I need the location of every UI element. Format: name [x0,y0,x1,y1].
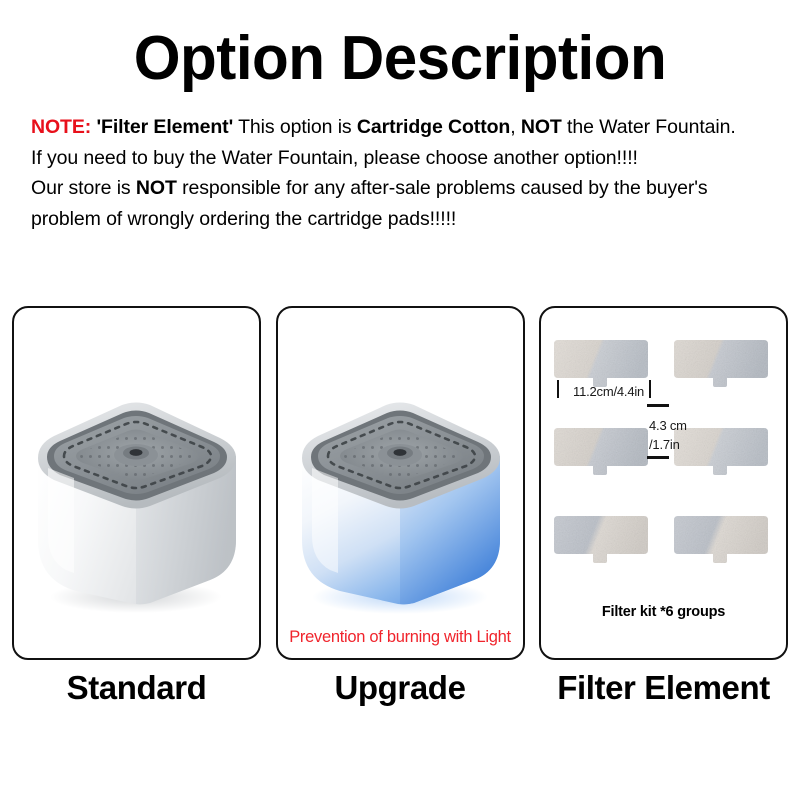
cartridge [674,340,768,387]
note-line3-text-c: responsible for any after-sale problems … [177,177,708,199]
option-labels: Standard Upgrade Filter Element [0,668,800,708]
note-line-2: If you need to buy the Water Fountain, p… [31,143,774,174]
option-panel-filter-element[interactable]: 11.2cm/4.4in 4.3 cm /1.7in Filter kit *6… [539,306,788,660]
water-fountain-white-icon [14,308,259,658]
dimension-tick-top [647,404,669,407]
dimension-height-label: 4.3 cm /1.7in [649,416,687,454]
note-line1-text-d: , [510,116,521,138]
note-label: NOTE: [31,116,91,138]
dimension-width-label: 11.2cm/4.4in [573,384,644,399]
cartridge [674,428,768,475]
note-line-4: problem of wrongly ordering the cartridg… [31,204,774,235]
option-panel-upgrade[interactable]: Prevention of burning with Light [276,306,525,660]
option-label-standard: Standard [12,668,261,708]
note-not-emphasis-2: NOT [136,177,177,199]
option-panels: Prevention of burning with Light [0,306,800,662]
option-label-filter-element: Filter Element [539,668,788,708]
note-line-3: Our store is NOT responsible for any aft… [31,173,774,204]
option-panel-standard[interactable] [12,306,261,660]
page-title: Option Description [12,0,788,92]
dimension-tick-left [557,380,559,398]
dimension-tick-bottom [647,456,669,459]
note-cartridge-cotton-term: Cartridge Cotton [357,116,510,138]
dimension-tick-right [649,380,651,398]
note-block: NOTE: 'Filter Element' This option is Ca… [0,92,800,234]
dimension-height-line1: 4.3 cm [649,416,687,435]
water-fountain-led-blue-icon [278,308,523,658]
led-caption: Prevention of burning with Light [278,628,523,646]
cartridge [554,340,648,387]
note-not-emphasis-1: NOT [521,116,562,138]
note-line1-text-f: the Water Fountain. [562,116,736,138]
dimension-height-line2: /1.7in [649,435,687,454]
filter-kit-caption: Filter kit *6 groups [541,604,786,620]
option-label-upgrade: Upgrade [276,668,525,708]
note-line-1: NOTE: 'Filter Element' This option is Ca… [31,112,774,143]
cartridge [674,516,768,563]
note-line1-text-b: This option is [233,116,357,138]
note-line3-text-a: Our store is [31,177,136,199]
cartridge [554,428,648,475]
cartridge [554,516,648,563]
note-filter-element-term: 'Filter Element' [91,116,233,138]
